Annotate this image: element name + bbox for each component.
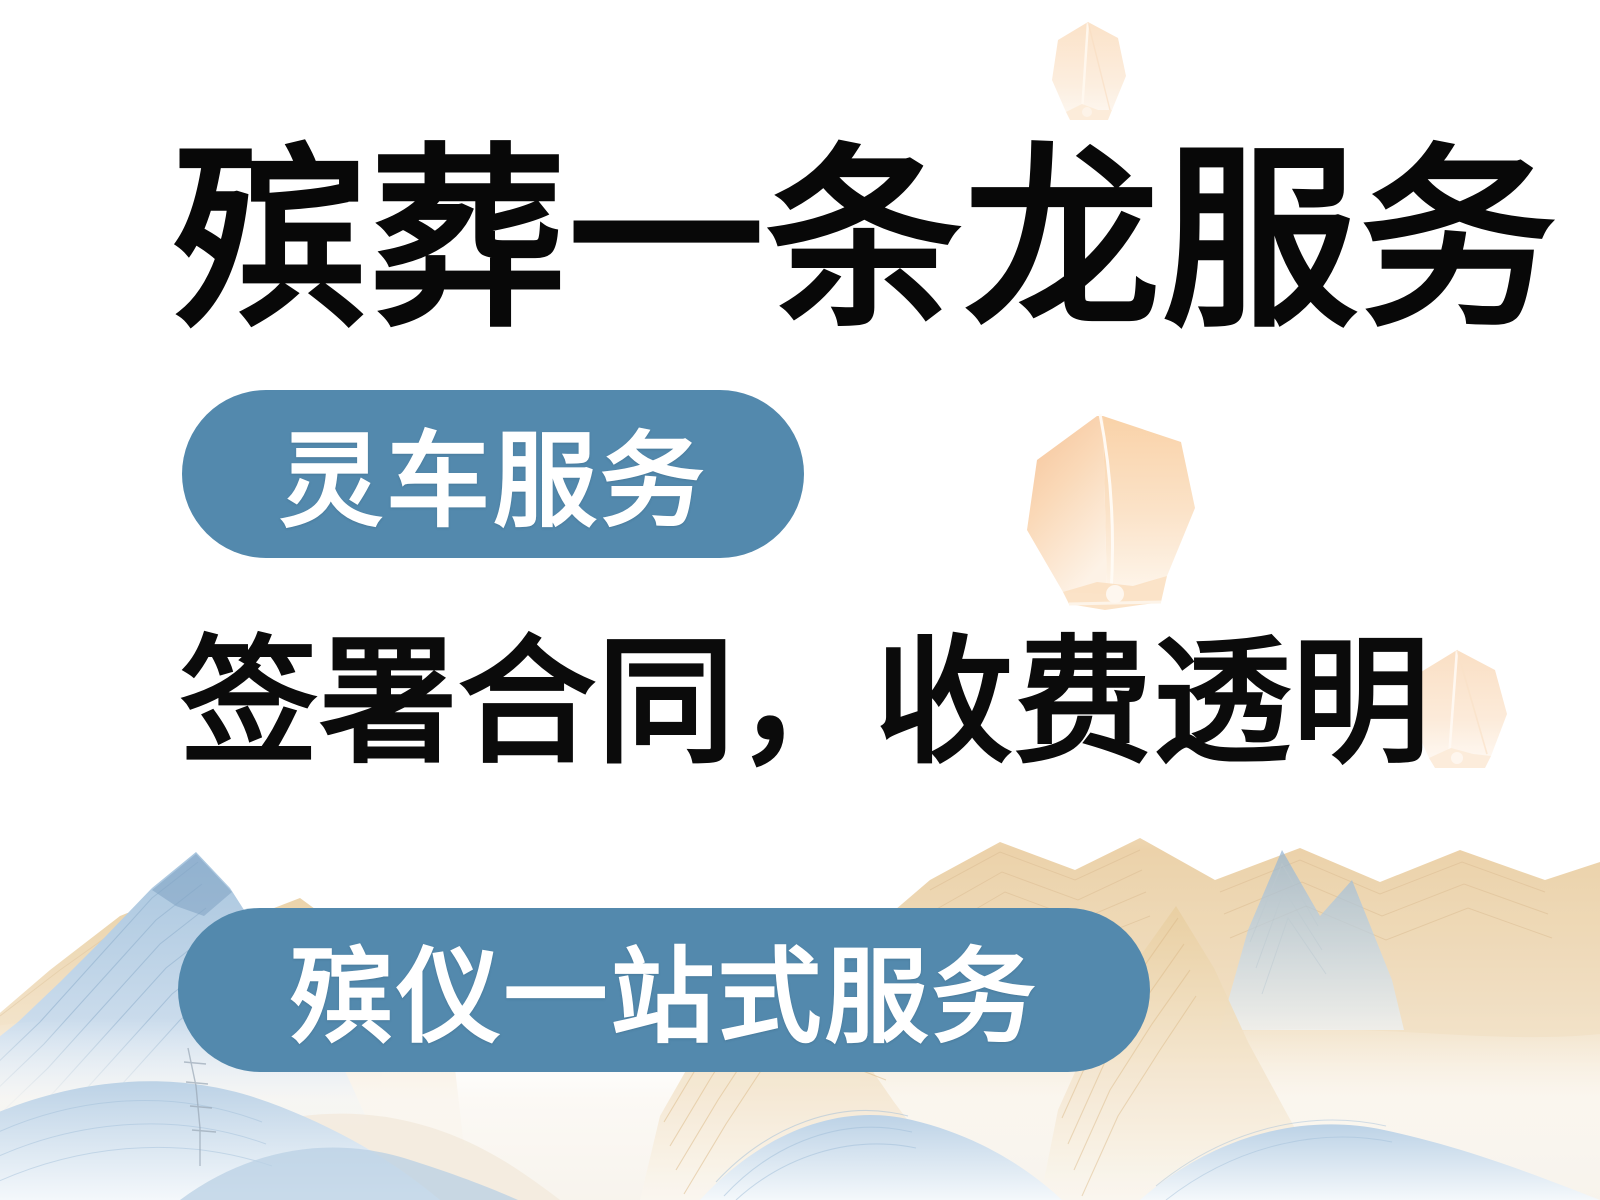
- service-badge-one-stop[interactable]: 殡仪一站式服务: [178, 908, 1150, 1072]
- service-badge-hearse[interactable]: 灵车服务: [182, 390, 804, 558]
- poster-canvas: 殡葬一条龙服务 灵车服务 签署合同，收费透明 殡仪一站式服务: [0, 0, 1600, 1200]
- poster-content: 殡葬一条龙服务 灵车服务 签署合同，收费透明 殡仪一站式服务: [0, 0, 1600, 1200]
- subtitle-text: 签署合同，收费透明: [180, 630, 1431, 775]
- page-title: 殡葬一条龙服务: [172, 138, 1558, 344]
